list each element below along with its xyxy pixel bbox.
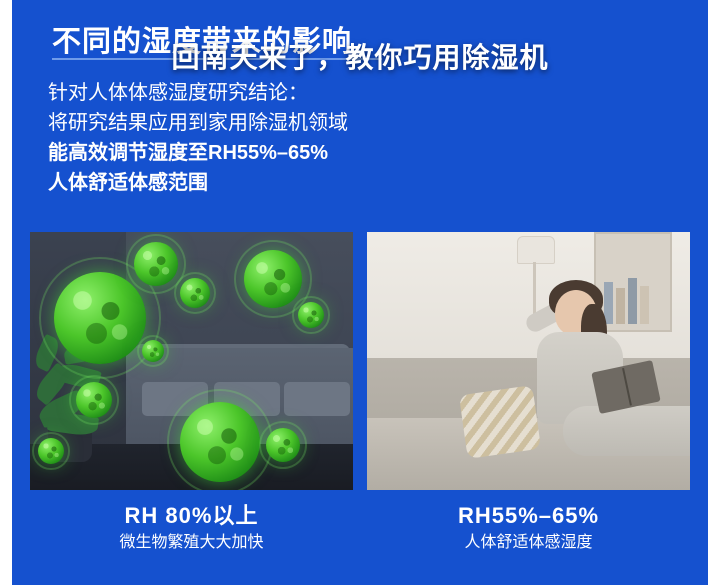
microbe-icon [298,302,324,328]
right-caption-head: RH55%–65% [367,502,690,530]
right-photo [367,232,690,490]
right-caption-sub: 人体舒适体感湿度 [367,530,690,556]
microbe-icon [38,438,64,464]
overlay-title: 回南天来了，教你巧用除湿机 [100,38,620,78]
bookshelf [594,232,672,332]
microbe-icon [142,340,164,362]
microbe-icon [180,402,260,482]
poster-root: 不同的湿度带来的影响 针对人体体感湿度研究结论： 将研究结果应用到家用除湿机领域… [0,0,720,585]
microbe-icon [54,272,146,364]
book [628,278,637,324]
right-caption: RH55%–65% 人体舒适体感湿度 [367,502,690,572]
microbe-icon [134,242,178,286]
caption-row: RH 80%以上 微生物繁殖大大加快 RH55%–65% 人体舒适体感湿度 [30,502,690,572]
microbe-icon [180,278,210,308]
left-frame-edge [0,0,12,585]
book [616,288,625,324]
conclusion-block: 针对人体体感湿度研究结论： 将研究结果应用到家用除湿机领域 能高效调节湿度至RH… [48,78,668,198]
left-caption-head: RH 80%以上 [30,502,353,530]
conclusion-line-2: 将研究结果应用到家用除湿机领域 [48,108,668,138]
microbe-icon [76,382,112,418]
sofa-cushion [284,382,350,416]
lamp-stem [533,262,536,316]
conclusion-line-3: 能高效调节湿度至RH55%–65% [48,138,668,168]
conclusion-line-1: 针对人体体感湿度研究结论： [48,78,668,108]
living-room-scene [30,232,353,490]
lamp-shade [517,236,555,264]
person-legs [563,406,690,456]
book [640,286,649,324]
microbe-icon [244,250,302,308]
right-frame-edge [708,0,720,585]
left-caption-sub: 微生物繁殖大大加快 [30,530,353,556]
microbe-icon [266,428,300,462]
lounge-scene [367,232,690,490]
left-photo [30,232,353,490]
photo-row [30,232,690,490]
throw-pillow [459,385,541,459]
left-caption: RH 80%以上 微生物繁殖大大加快 [30,502,353,572]
conclusion-line-4: 人体舒适体感范围 [48,168,668,198]
